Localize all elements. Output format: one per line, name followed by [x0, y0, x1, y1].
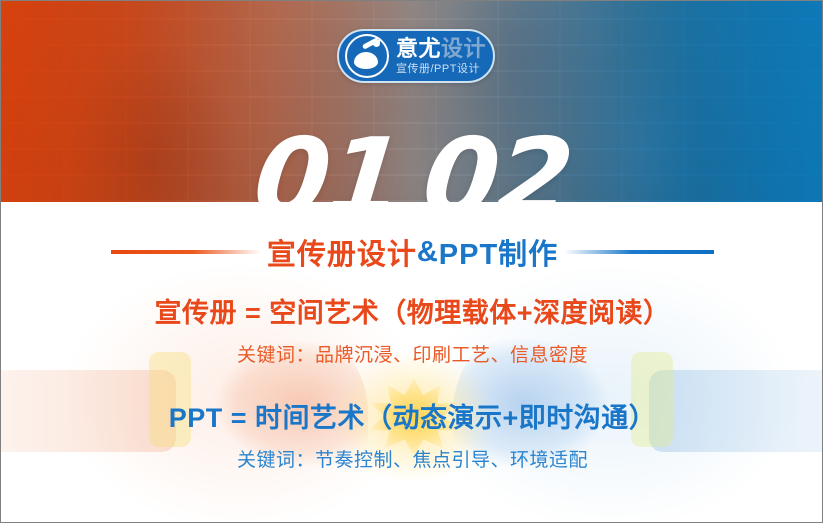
brand-name-strong: 意尤	[396, 36, 441, 61]
hero-photo-band: 01 02 意尤设计 宣传册/PPT设计	[1, 1, 823, 202]
brand-logo-badge[interactable]: 意尤设计 宣传册/PPT设计	[337, 29, 495, 83]
ppt-headline: PPT = 时间艺术（动态演示+即时沟通）	[1, 402, 823, 434]
section-title: 宣传册设计 & PPT制作	[1, 231, 823, 273]
content-panel: 宣传册设计 & PPT制作 宣传册 = 空间艺术（物理载体+深度阅读） 关键词：…	[1, 202, 823, 522]
brochure-keywords: 关键词：品牌沉浸、印刷工艺、信息密度	[1, 340, 823, 367]
slide-root: 01 02 意尤设计 宣传册/PPT设计	[0, 0, 823, 523]
brush-drop-body	[354, 52, 378, 69]
brand-name-light: 设计	[441, 36, 486, 61]
brand-subtitle: 宣传册/PPT设计	[396, 64, 486, 75]
section-title-orange: 宣传册设计	[267, 231, 417, 273]
content-block-ppt: PPT = 时间艺术（动态演示+即时沟通） 关键词：节奏控制、焦点引导、环境适配	[1, 402, 823, 472]
brush-drop-icon	[345, 34, 389, 78]
brand-name: 意尤设计	[396, 38, 486, 60]
title-rule-right	[564, 250, 714, 254]
title-rule-left	[111, 250, 261, 254]
brand-logo-text: 意尤设计 宣传册/PPT设计	[396, 38, 486, 75]
brochure-headline: 宣传册 = 空间艺术（物理载体+深度阅读）	[1, 297, 823, 329]
brush-nib	[373, 40, 380, 47]
content-block-brochure: 宣传册 = 空间艺术（物理载体+深度阅读） 关键词：品牌沉浸、印刷工艺、信息密度	[1, 297, 823, 367]
section-title-ampersand: &	[417, 236, 439, 269]
section-title-blue: PPT制作	[439, 231, 558, 273]
ppt-keywords: 关键词：节奏控制、焦点引导、环境适配	[1, 445, 823, 472]
